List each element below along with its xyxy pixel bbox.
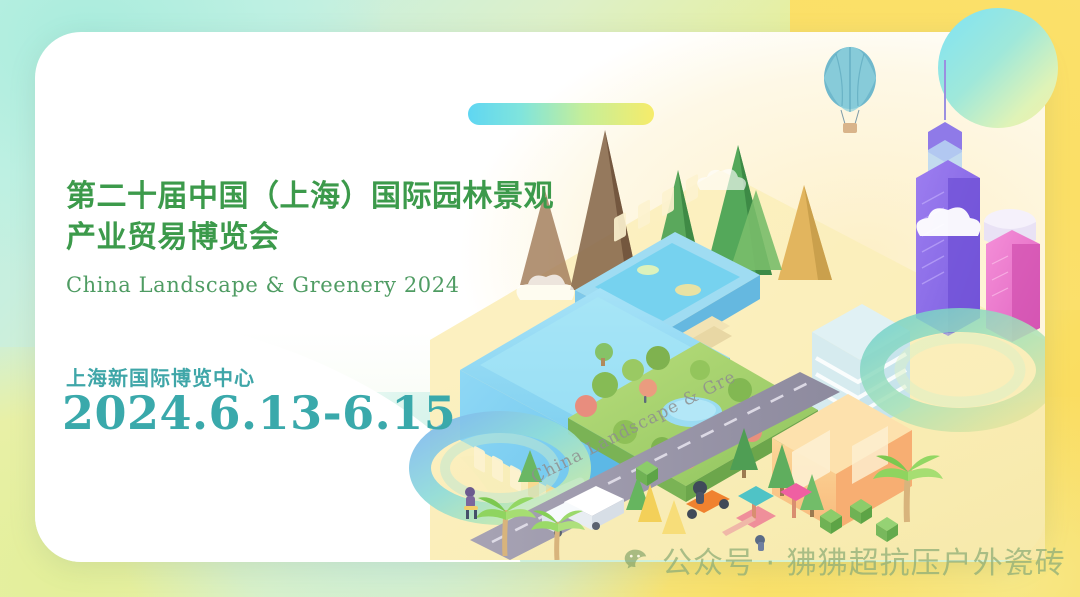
title-cn-line1: 第二十届中国（上海）国际园林景观: [66, 176, 606, 217]
poster-root: 第二十届中国（上海）国际园林景观 产业贸易博览会 China Landscape…: [0, 0, 1080, 597]
hot-air-balloon: [824, 47, 876, 133]
watermark-text: 公众号 · 狒狒超抗压户外瓷砖: [662, 538, 1066, 582]
skyscrapers: [916, 60, 1040, 342]
event-dates: 2024.6.13-6.15: [62, 386, 456, 440]
watermark: 公众号 · 狒狒超抗压户外瓷砖: [624, 538, 1066, 582]
title-cn-line2: 产业贸易博览会: [66, 217, 606, 258]
wechat-icon: [624, 548, 653, 573]
poster-text-block: 第二十届中国（上海）国际园林景观 产业贸易博览会 China Landscape…: [66, 176, 606, 297]
title-en: China Landscape & Greenery 2024: [66, 273, 606, 297]
isometric-city-illustration: [400, 40, 1045, 560]
